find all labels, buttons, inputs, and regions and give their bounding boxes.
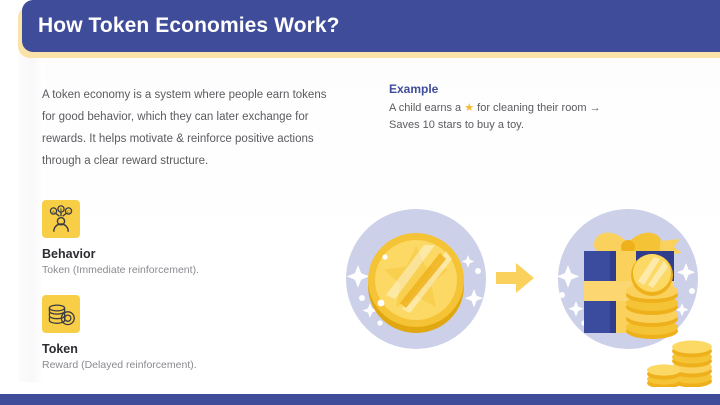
feature-behavior-sub: Token (Immediate reinforcement). bbox=[42, 264, 342, 276]
footer-bar bbox=[0, 394, 720, 405]
slide-header: How Token Economies Work? bbox=[0, 0, 720, 58]
svg-text:A: A bbox=[52, 209, 55, 214]
skills-person-icon: A B C bbox=[42, 200, 80, 238]
feature-behavior: A B C Behavior Token (Immediate reinforc… bbox=[42, 200, 342, 276]
example-block: Example A child earns a ★ for cleaning t… bbox=[389, 82, 629, 134]
coin-stack-icon bbox=[42, 295, 80, 333]
svg-text:B: B bbox=[60, 207, 63, 212]
example-heading: Example bbox=[389, 82, 629, 96]
intro-paragraph: A token economy is a system where people… bbox=[42, 84, 334, 172]
header-bar: How Token Economies Work? bbox=[22, 0, 720, 52]
example-text: A child earns a ★ for cleaning their roo… bbox=[389, 100, 629, 134]
arrow-right-icon bbox=[496, 263, 534, 293]
page-title: How Token Economies Work? bbox=[22, 14, 340, 38]
feature-behavior-label: Behavior bbox=[42, 247, 342, 261]
left-margin-stripe bbox=[18, 52, 44, 382]
gold-coin-icon bbox=[346, 209, 486, 349]
feature-token-sub: Reward (Delayed reinforcement). bbox=[42, 359, 342, 371]
slide-canvas: How Token Economies Work? A token econom… bbox=[0, 0, 720, 405]
example-text-before: A child earns a bbox=[389, 102, 464, 114]
feature-token-label: Token bbox=[42, 342, 342, 356]
svg-text:C: C bbox=[67, 209, 70, 214]
star-icon: ★ bbox=[464, 102, 474, 114]
feature-token: Token Reward (Delayed reinforcement). bbox=[42, 295, 342, 371]
corner-coin-stack-icon bbox=[646, 327, 720, 387]
